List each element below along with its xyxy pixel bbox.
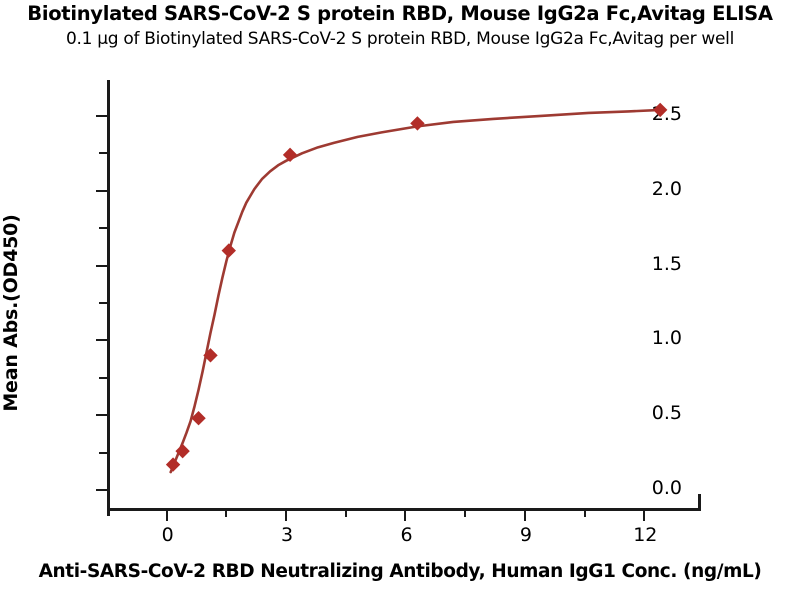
y-tick-mark bbox=[96, 265, 107, 267]
fit-curve bbox=[171, 110, 661, 472]
x-tick-label: 9 bbox=[496, 524, 556, 546]
y-tick-mark-minor bbox=[99, 377, 107, 379]
data-point-marker bbox=[166, 457, 180, 471]
x-tick-label: 3 bbox=[257, 524, 317, 546]
y-tick-mark-minor bbox=[99, 452, 107, 454]
y-tick-mark bbox=[96, 190, 107, 192]
y-tick-mark bbox=[96, 115, 107, 117]
x-tick-label: 12 bbox=[615, 524, 675, 546]
plot-area: 0.00.51.01.52.02.5 036912 bbox=[107, 80, 700, 508]
data-point-marker bbox=[283, 148, 297, 162]
y-tick-mark-minor bbox=[99, 302, 107, 304]
y-tick-mark-minor bbox=[99, 227, 107, 229]
y-tick-mark bbox=[96, 414, 107, 416]
y-axis-title: Mean Abs.(OD450) bbox=[0, 93, 34, 533]
x-tick-label: 6 bbox=[376, 524, 436, 546]
x-tick-label: 0 bbox=[138, 524, 198, 546]
data-point-marker bbox=[653, 103, 667, 117]
chart-subtitle: 0.1 µg of Biotinylated SARS-CoV-2 S prot… bbox=[0, 29, 800, 49]
data-point-marker bbox=[222, 243, 236, 257]
y-tick-mark-minor bbox=[99, 152, 107, 154]
y-tick-mark bbox=[96, 489, 107, 491]
x-axis-title: Anti-SARS-CoV-2 RBD Neutralizing Antibod… bbox=[0, 561, 800, 582]
data-layer bbox=[107, 80, 700, 511]
data-point-markers bbox=[166, 103, 668, 472]
chart-title: Biotinylated SARS-CoV-2 S protein RBD, M… bbox=[0, 2, 800, 25]
y-tick-mark bbox=[96, 339, 107, 341]
elisa-chart: Biotinylated SARS-CoV-2 S protein RBD, M… bbox=[0, 0, 800, 600]
